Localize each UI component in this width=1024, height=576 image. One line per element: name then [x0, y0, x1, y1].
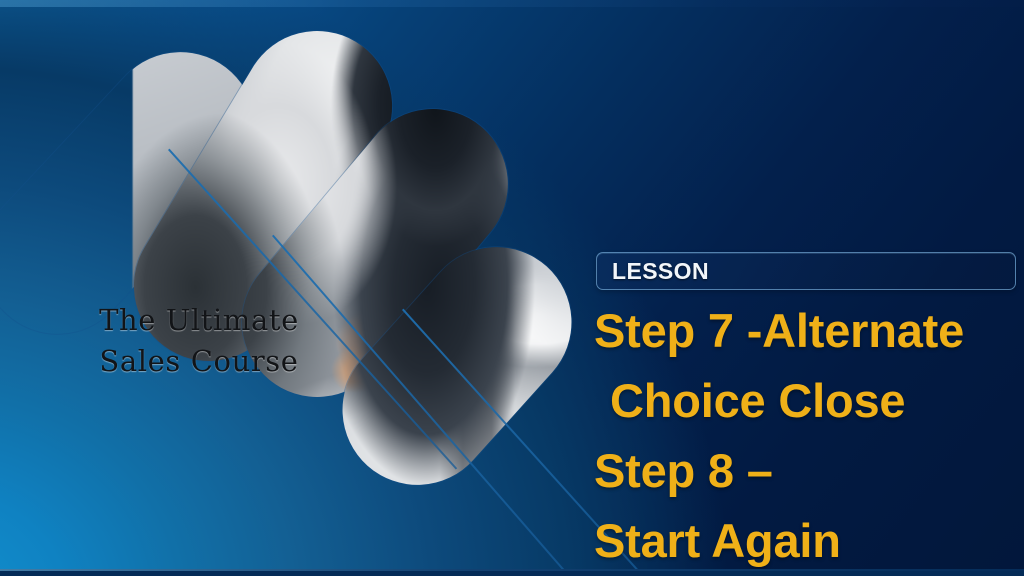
- lesson-badge: LESSON: [596, 252, 1016, 290]
- lesson-title-line-1: Step 7 -Alternate: [594, 296, 1022, 366]
- lesson-title-line-4: Start Again: [594, 506, 1022, 576]
- content-panel: LESSON Step 7 -Alternate Choice Close St…: [588, 0, 1024, 576]
- lesson-title-line-3: Step 8 –: [594, 436, 1022, 506]
- photo-collage: [0, 0, 580, 560]
- lesson-title-line-2: Choice Close: [594, 366, 1022, 436]
- lesson-title: Step 7 -Alternate Choice Close Step 8 – …: [594, 296, 1022, 576]
- bottom-edge-bar: [0, 569, 1024, 576]
- slide-canvas: The Ultimate Sales Course LESSON Step 7 …: [0, 0, 1024, 576]
- lesson-badge-label: LESSON: [612, 258, 709, 285]
